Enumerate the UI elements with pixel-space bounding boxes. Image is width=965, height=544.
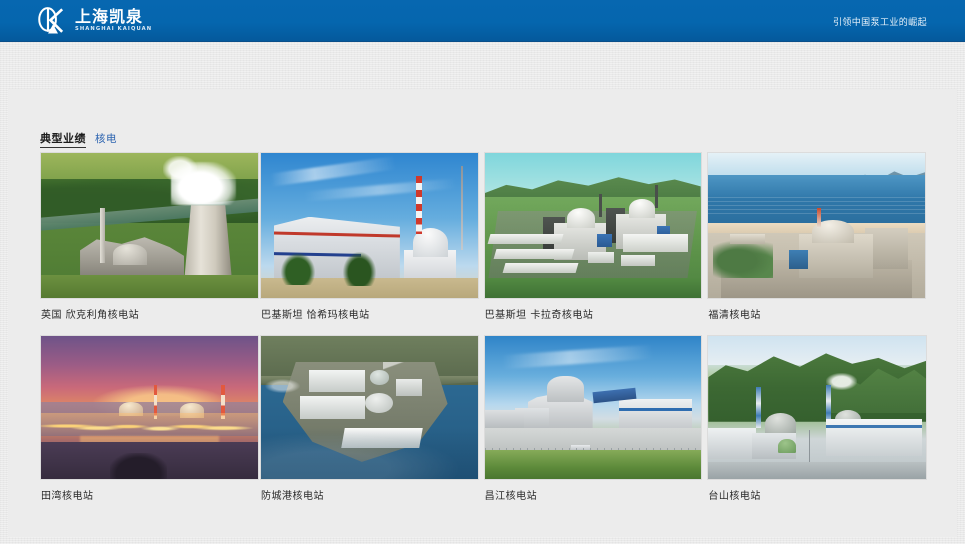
performance-gallery: 英国 欣克利角核电站 巴基斯坦 恰希玛核电站 <box>40 152 930 516</box>
plant-photo-fuqing[interactable] <box>707 152 926 299</box>
brand-name-cn: 上海凯泉 <box>75 9 152 25</box>
photo-caption: 福清核电站 <box>707 299 930 335</box>
gallery-item[interactable]: 昌江核电站 <box>484 335 707 516</box>
plant-photo-tianwan[interactable] <box>40 335 259 480</box>
photo-art <box>708 153 925 298</box>
photo-caption: 英国 欣克利角核电站 <box>40 299 259 335</box>
photo-caption: 巴基斯坦 恰希玛核电站 <box>260 299 483 335</box>
photo-caption: 昌江核电站 <box>484 480 707 516</box>
photo-caption: 防城港核电站 <box>260 480 483 516</box>
gallery-item[interactable]: 福清核电站 <box>707 152 930 335</box>
kaiquan-k-logo-icon <box>36 6 70 36</box>
header-slogan: 引领中国泵工业的崛起 <box>833 0 927 42</box>
plant-photo-fangchenggang[interactable] <box>260 335 479 480</box>
section-subtitle-nuclear[interactable]: 核电 <box>95 131 117 146</box>
plant-photo-karachi[interactable] <box>484 152 702 299</box>
site-header: 上海凯泉 SHANGHAI KAIQUAN 引领中国泵工业的崛起 <box>0 0 965 42</box>
gallery-item[interactable]: 田湾核电站 <box>40 335 259 516</box>
section-title: 典型业绩 <box>40 130 86 148</box>
brand-logo[interactable]: 上海凯泉 SHANGHAI KAIQUAN <box>36 5 152 37</box>
photo-art <box>41 336 258 479</box>
photo-art <box>261 336 478 479</box>
page-body: 典型业绩 核电 英国 欣克利角核电站 <box>0 42 965 544</box>
content-sheet: 典型业绩 核电 英国 欣克利角核电站 <box>8 89 957 537</box>
gallery-item[interactable]: 防城港核电站 <box>260 335 483 516</box>
plant-photo-hinkley[interactable] <box>40 152 259 299</box>
gallery-item[interactable]: 英国 欣克利角核电站 <box>40 152 259 335</box>
gallery-item[interactable]: 巴基斯坦 卡拉奇核电站 <box>484 152 707 335</box>
plant-photo-changjiang[interactable] <box>484 335 702 480</box>
photo-caption: 巴基斯坦 卡拉奇核电站 <box>484 299 707 335</box>
photo-art <box>261 153 478 298</box>
photo-art <box>708 336 926 479</box>
gallery-item[interactable]: 巴基斯坦 恰希玛核电站 <box>260 152 483 335</box>
photo-caption: 台山核电站 <box>707 480 930 516</box>
photo-art <box>41 153 258 298</box>
plant-photo-chashma[interactable] <box>260 152 479 299</box>
gallery-item[interactable]: 台山核电站 <box>707 335 930 516</box>
photo-art <box>485 153 701 298</box>
plant-photo-taishan[interactable] <box>707 335 927 480</box>
brand-name-en: SHANGHAI KAIQUAN <box>75 27 152 32</box>
photo-caption: 田湾核电站 <box>40 480 259 516</box>
photo-art <box>485 336 701 479</box>
section-header: 典型业绩 核电 <box>40 130 117 148</box>
